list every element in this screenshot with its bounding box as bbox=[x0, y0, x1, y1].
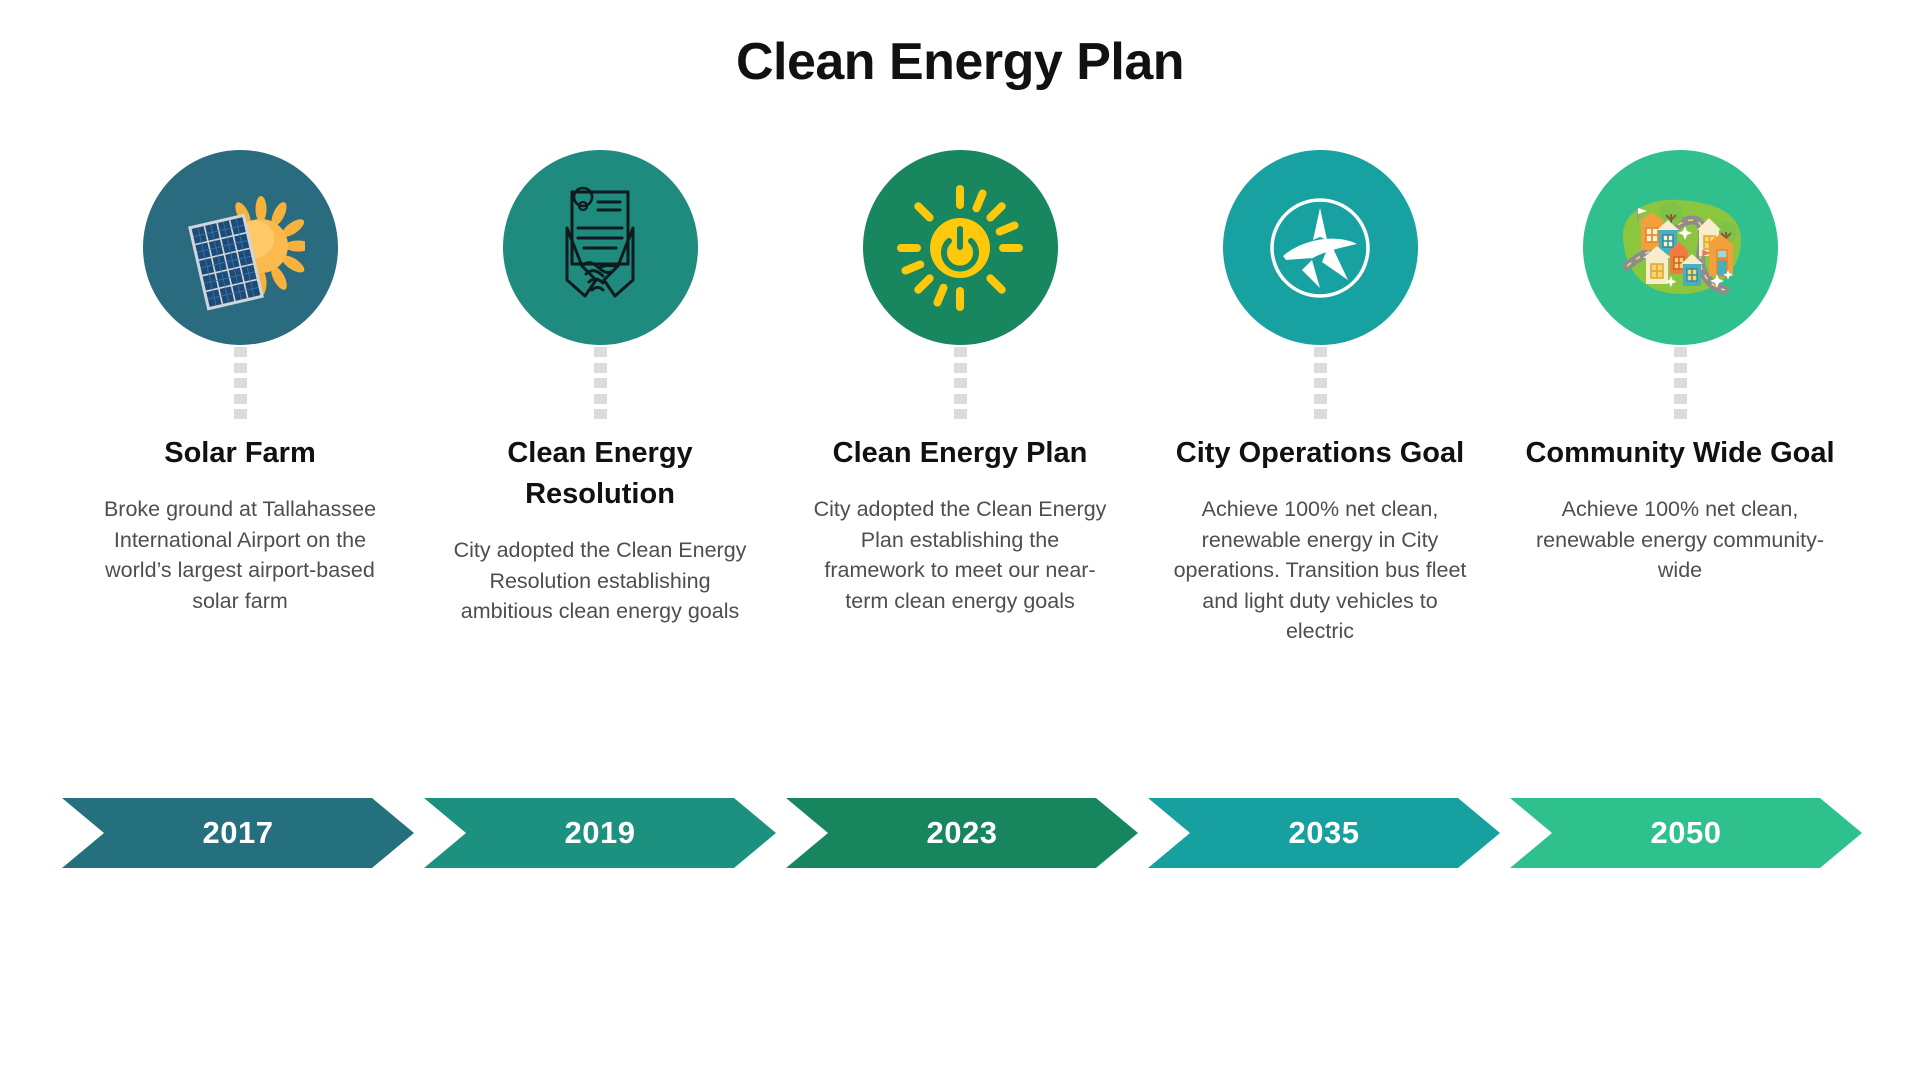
milestone-body-3: City adopted the Clean Energy Plan estab… bbox=[810, 494, 1110, 616]
year-chevron-2023[interactable]: 2023 bbox=[786, 798, 1138, 868]
milestone-heading-1: Solar Farm bbox=[164, 433, 316, 474]
connector-dots-2 bbox=[594, 347, 607, 419]
infographic-root: Clean Energy Plan bbox=[0, 0, 1920, 1080]
connector-dots-3 bbox=[954, 347, 967, 419]
year-label-2019: 2019 bbox=[565, 815, 636, 851]
handshake-certificate-icon bbox=[536, 184, 664, 312]
year-label-2023: 2023 bbox=[927, 815, 998, 851]
milestone-icon-circle-3 bbox=[863, 150, 1058, 345]
milestone-icon-circle-4 bbox=[1223, 150, 1418, 345]
connector-dots-5 bbox=[1674, 347, 1687, 419]
community-village-icon bbox=[1605, 178, 1755, 318]
year-chevron-2035[interactable]: 2035 bbox=[1148, 798, 1500, 868]
milestone-icon-circle-5 bbox=[1583, 150, 1778, 345]
year-chevron-2019[interactable]: 2019 bbox=[424, 798, 776, 868]
milestone-icon-circle-1 bbox=[143, 150, 338, 345]
year-chevron-2050[interactable]: 2050 bbox=[1510, 798, 1862, 868]
milestone-heading-3: Clean Energy Plan bbox=[833, 433, 1088, 474]
year-chevron-2017[interactable]: 2017 bbox=[62, 798, 414, 868]
milestone-column-1: Solar Farm Broke ground at Tallahassee I… bbox=[60, 150, 420, 616]
solar-panel-sun-icon bbox=[175, 183, 305, 313]
milestone-body-2: City adopted the Clean Energy Resolution… bbox=[450, 535, 750, 627]
sun-power-button-icon bbox=[895, 183, 1025, 313]
year-label-2050: 2050 bbox=[1651, 815, 1722, 851]
milestone-body-1: Broke ground at Tallahassee Internationa… bbox=[90, 494, 390, 616]
milestone-icon-circle-2 bbox=[503, 150, 698, 345]
milestone-column-5: Community Wide Goal Achieve 100% net cle… bbox=[1500, 150, 1860, 586]
year-label-2017: 2017 bbox=[203, 815, 274, 851]
milestone-body-5: Achieve 100% net clean, renewable energy… bbox=[1530, 494, 1830, 586]
milestone-column-2: Clean Energy Resolution City adopted the… bbox=[420, 150, 780, 627]
connector-dots-4 bbox=[1314, 347, 1327, 419]
milestone-heading-2: Clean Energy Resolution bbox=[445, 433, 755, 515]
timeline-columns: Solar Farm Broke ground at Tallahassee I… bbox=[60, 150, 1860, 647]
milestone-column-3: Clean Energy Plan City adopted the Clean… bbox=[780, 150, 1140, 616]
milestone-heading-5: Community Wide Goal bbox=[1525, 433, 1834, 474]
page-title: Clean Energy Plan bbox=[0, 34, 1920, 91]
milestone-heading-4: City Operations Goal bbox=[1176, 433, 1464, 474]
connector-dots-1 bbox=[234, 347, 247, 419]
milestone-column-4: City Operations Goal Achieve 100% net cl… bbox=[1140, 150, 1500, 647]
year-timeline-bar: 2017 2019 2023 2035 2050 bbox=[62, 798, 1862, 868]
star-swoosh-icon bbox=[1256, 184, 1384, 312]
milestone-body-4: Achieve 100% net clean, renewable energy… bbox=[1170, 494, 1470, 647]
year-label-2035: 2035 bbox=[1289, 815, 1360, 851]
